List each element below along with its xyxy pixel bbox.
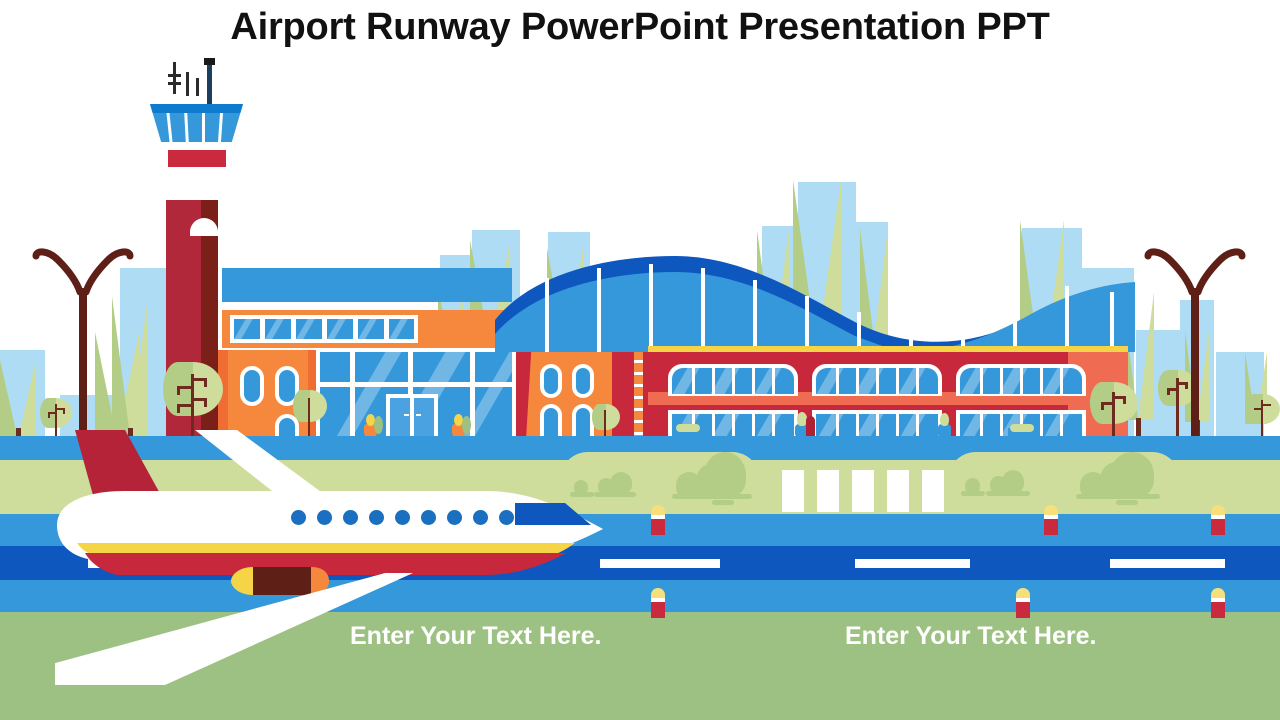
runway-bollard [651,505,665,535]
bush-base [1076,494,1160,499]
tower-mullion [202,113,205,142]
window-divider [772,368,775,394]
crosswalk-bar [782,470,804,512]
slide-canvas: Airport Runway PowerPoint Presentation P… [0,0,1280,720]
airplane-window [317,510,332,525]
bush-base [1116,500,1138,505]
airplane-window [499,510,514,525]
window-divider [856,368,859,394]
crosswalk-bar [852,470,874,512]
roof-rib [909,304,913,352]
runway-bollard [1016,588,1030,618]
airplane-window [473,510,488,525]
control-tower-band [168,150,226,167]
crosswalk-bar [817,470,839,512]
airplane-window [447,510,462,525]
window-divider [916,368,919,394]
bush-base [961,491,985,496]
text-placeholder-1[interactable]: Enter Your Text Here. [350,622,601,651]
terminal-wave-glass [495,252,1135,352]
window-divider [692,368,695,394]
text-placeholder-2[interactable]: Enter Your Text Here. [845,622,1096,651]
bush-base [986,491,1030,496]
window-divider [876,368,879,394]
planter-plant [940,413,949,426]
window-divider [980,368,983,394]
planter-foliage [676,424,700,432]
roof-rib [1065,286,1069,352]
ladder-rung [634,432,643,435]
runway-dash [855,559,970,568]
roof-rib [597,268,601,352]
window-divider [752,368,755,394]
bush [1002,470,1024,493]
tower-antenna [173,62,176,94]
roof-rib [805,296,809,352]
airplane-window [421,510,436,525]
roof-rib [1110,292,1114,352]
ladder-rung [634,384,643,387]
window-divider [1040,368,1043,394]
tower-antenna [168,74,181,77]
terminal-left-upper-band [222,268,512,302]
facade-mullion [320,382,512,387]
planter-foliage [1010,424,1034,432]
airplane-window [395,510,410,525]
runway-dash [1110,559,1225,568]
roof-rib [1013,284,1017,352]
door-handle [404,414,409,416]
ladder-rung [634,396,643,399]
window-divider [712,368,715,394]
runway-bollard [1211,505,1225,535]
tower-antenna [204,58,215,65]
window-divider [836,368,839,394]
ladder-rung [634,372,643,375]
tower-antenna [196,78,199,96]
runway-bollard [1211,588,1225,618]
ladder-rung [634,420,643,423]
bush [1110,452,1154,498]
crosswalk-bar [922,470,944,512]
window-divider [1020,368,1023,394]
airplane-window [291,510,306,525]
door-handle [416,414,421,416]
arch-window-glass [544,368,558,394]
page-title: Airport Runway PowerPoint Presentation P… [0,6,1280,49]
tower-antenna [186,72,189,96]
bush-base [712,500,734,505]
tower-mullion [218,113,223,142]
window-divider [896,368,899,394]
tower-glass-top [150,104,243,113]
roof-rib [753,280,757,352]
window-divider [1000,368,1003,394]
lamp-post-right [1140,248,1250,443]
tower-antenna [207,60,212,108]
roof-rib [649,264,653,352]
tower-mullion [166,113,172,142]
tower-antenna [168,82,181,85]
arch-window-glass [244,370,260,402]
runway-bollard [1044,505,1058,535]
control-tower-glass [150,104,243,142]
ladder-rung [634,360,643,363]
roof-rib [961,290,965,352]
window-divider [732,368,735,394]
runway-bollard [651,588,665,618]
ladder-rung [634,408,643,411]
bush-base [672,494,752,499]
window-divider [1060,368,1063,394]
airplane-window [343,510,358,525]
roof-rib [701,268,705,352]
crosswalk-bar [887,470,909,512]
roof-rib [545,278,549,352]
lamp-post-left [28,248,138,443]
arch-window-glass [576,368,590,394]
bush [704,452,746,498]
tower-mullion [184,113,189,142]
arch-window-glass [279,370,295,402]
airplane-window [369,510,384,525]
